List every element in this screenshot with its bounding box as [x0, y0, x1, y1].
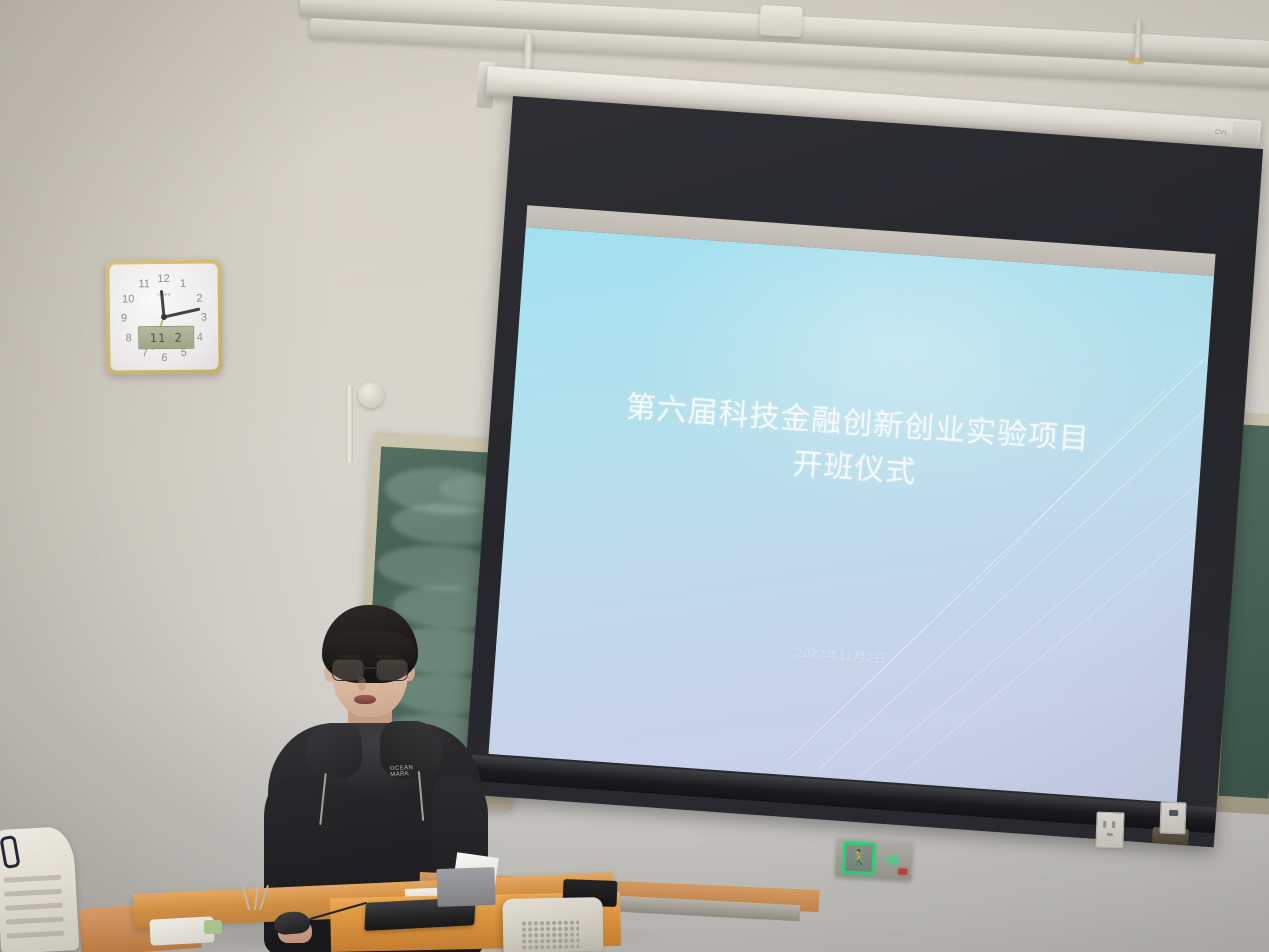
- clock-numeral: 12: [157, 273, 169, 285]
- clock-numeral: 3: [201, 312, 207, 324]
- runner-glyph: 🚶: [849, 850, 869, 866]
- wall-clock: TIMER 12 1 2 3 4 5 6 7 8 9 10 11 11 2: [105, 259, 222, 374]
- exit-sign-indicator-led: [898, 868, 907, 875]
- clock-numeral: 6: [161, 352, 167, 364]
- pipe-fitting: [1128, 57, 1144, 64]
- clock-numeral: 10: [122, 293, 134, 305]
- clock-lcd-display: 11 2: [138, 326, 194, 350]
- clock-brand-label: TIMER: [156, 291, 171, 296]
- presenter-eyebrow-left: [338, 655, 360, 658]
- projected-slide: 第六届科技金融创新创业实验项目 开班仪式 2022年11月2日: [488, 227, 1214, 802]
- clock-numeral: 1: [180, 278, 186, 290]
- wall-conduit: [346, 386, 353, 462]
- paper-holder-tray[interactable]: [436, 867, 495, 907]
- screen-brand-mark: CVL: [1215, 130, 1229, 137]
- clock-numeral: 11: [138, 278, 150, 290]
- clock-numeral: 2: [196, 293, 202, 305]
- classroom-photo-scene: TIMER 12 1 2 3 4 5 6 7 8 9 10 11 11 2: [0, 0, 1269, 952]
- desktop-monitor[interactable]: [503, 897, 604, 952]
- running-person-icon: 🚶: [842, 841, 876, 875]
- slide-title: 第六届科技金融创新创业实验项目 开班仪式: [621, 385, 1091, 508]
- glasses-lens-left: [332, 659, 364, 681]
- glasses-lens-right: [376, 659, 408, 681]
- clock-minute-hand: [164, 307, 201, 318]
- desk-item-small: [204, 920, 222, 934]
- glasses-icon: [332, 659, 410, 679]
- clock-numeral: 8: [125, 333, 131, 345]
- clock-center-pin: [161, 314, 167, 320]
- slide-text-block: 第六届科技金融创新创业实验项目 开班仪式: [488, 227, 1214, 802]
- emergency-exit-sign: 🚶 ➜: [835, 838, 913, 880]
- clock-numeral: 4: [197, 332, 203, 344]
- wall-data-port[interactable]: [1159, 802, 1186, 835]
- presenter-eyebrow-right: [376, 655, 398, 658]
- wall-speaker-icon: [358, 382, 384, 408]
- ceiling-pipe-joint: [759, 5, 803, 37]
- projector-screen: 第六届科技金融创新创业实验项目 开班仪式 2022年11月2日: [464, 96, 1264, 847]
- clock-numeral: 9: [121, 312, 127, 324]
- monitor-speaker-grille: [521, 920, 580, 951]
- exit-arrow-icon: ➜: [883, 850, 900, 870]
- wall-outlet[interactable]: [1095, 812, 1124, 849]
- desk-pens: [246, 884, 262, 912]
- jacket-hood-left: [306, 723, 362, 779]
- glasses-bridge: [362, 667, 376, 669]
- presenter-mouth: [354, 695, 376, 704]
- clock-face: TIMER 12 1 2 3 4 5 6 7 8 9 10 11 11 2: [109, 263, 218, 370]
